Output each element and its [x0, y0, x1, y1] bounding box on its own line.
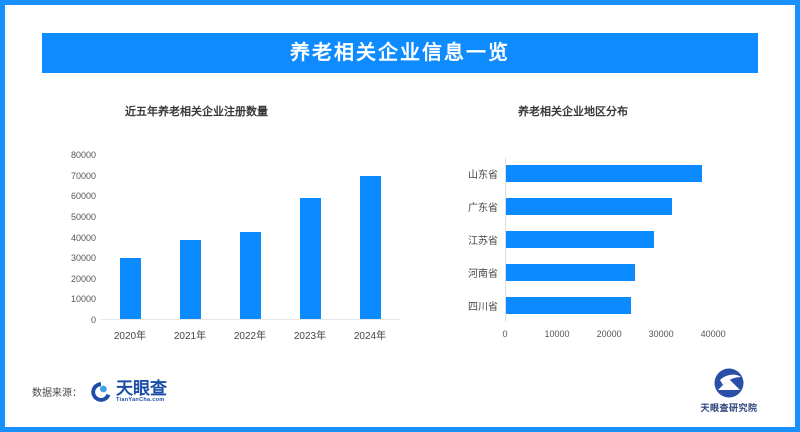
bar-row: 河南省 [506, 256, 735, 289]
bar [180, 240, 201, 319]
x-tick-label: 0 [502, 329, 507, 339]
bar [240, 232, 261, 319]
bar [506, 264, 635, 281]
bar [300, 198, 321, 319]
y-tick-label: 70000 [71, 171, 96, 181]
x-tick-label: 2024年 [340, 327, 400, 342]
header-banner: 养老相关企业信息一览 [42, 33, 758, 73]
x-tick-label: 2021年 [160, 327, 220, 342]
chart-registrations-baseline [100, 319, 400, 320]
bar-row: 四川省 [506, 289, 735, 322]
x-tick-label: 10000 [545, 329, 570, 339]
bar-slot [160, 155, 220, 319]
chart-regions-bars: 山东省广东省江苏省河南省四川省 [506, 157, 735, 322]
chart-registrations-x-axis: 2020年2021年2022年2023年2024年 [100, 327, 400, 342]
bar-slot [340, 155, 400, 319]
y-tick-label: 江苏省 [468, 232, 498, 247]
y-tick-label: 30000 [71, 253, 96, 263]
chart-registrations-bars [100, 155, 400, 319]
bar-slot [220, 155, 280, 319]
institute-emblem-icon [710, 368, 748, 398]
frame-border-left [0, 0, 5, 432]
data-source-label: 数据来源： [32, 384, 82, 399]
x-tick-label: 2022年 [220, 327, 280, 342]
chart-regions: 养老相关企业地区分布 山东省广东省江苏省河南省四川省 0100002000030… [430, 95, 770, 350]
bar-slot [100, 155, 160, 319]
chart-regions-title: 养老相关企业地区分布 [518, 103, 628, 119]
y-tick-label: 60000 [71, 191, 96, 201]
bar [506, 165, 702, 182]
data-source: 数据来源： 天眼查 TianYanCha.com [32, 380, 167, 404]
page-title: 养老相关企业信息一览 [290, 43, 510, 63]
x-tick-label: 2023年 [280, 327, 340, 342]
tianyancha-eye-icon [90, 381, 112, 403]
x-tick-label: 40000 [701, 329, 726, 339]
bar [506, 297, 631, 314]
y-tick-label: 河南省 [468, 265, 498, 280]
institute-name: 天眼查研究院 [700, 401, 757, 414]
y-tick-label: 40000 [71, 233, 96, 243]
bar-row: 江苏省 [506, 223, 735, 256]
bar-row: 广东省 [506, 190, 735, 223]
x-tick-label: 20000 [597, 329, 622, 339]
y-tick-label: 20000 [71, 274, 96, 284]
chart-registrations-y-axis: 8000070000600005000040000300002000010000… [44, 155, 96, 320]
chart-registrations-plot-area: 8000070000600005000040000300002000010000… [100, 155, 400, 320]
frame-border-right [795, 0, 800, 432]
y-tick-label: 10000 [71, 294, 96, 304]
bar [120, 258, 141, 319]
y-tick-label: 80000 [71, 150, 96, 160]
frame-border-top [0, 0, 800, 5]
infographic-page: 养老相关企业信息一览 近五年养老相关企业注册数量 800007000060000… [0, 0, 800, 432]
chart-registrations: 近五年养老相关企业注册数量 80000700006000050000400003… [40, 95, 420, 350]
tianyancha-name-cn: 天眼查 [116, 380, 167, 397]
y-tick-label: 四川省 [468, 298, 498, 313]
chart-regions-x-axis: 010000200003000040000 [505, 329, 735, 343]
bar-slot [280, 155, 340, 319]
y-tick-label: 广东省 [468, 199, 498, 214]
institute-logo: 天眼查研究院 [690, 368, 768, 414]
bar [506, 231, 654, 248]
bar [360, 176, 381, 319]
y-tick-label: 0 [91, 315, 96, 325]
x-tick-label: 30000 [649, 329, 674, 339]
chart-registrations-title: 近五年养老相关企业注册数量 [125, 103, 268, 119]
bar [506, 198, 672, 215]
tianyancha-logo: 天眼查 TianYanCha.com [90, 380, 167, 404]
x-tick-label: 2020年 [100, 327, 160, 342]
y-tick-label: 山东省 [468, 166, 498, 181]
chart-regions-plot-area: 山东省广东省江苏省河南省四川省 [505, 157, 735, 322]
y-tick-label: 50000 [71, 212, 96, 222]
bar-row: 山东省 [506, 157, 735, 190]
frame-border-bottom [0, 427, 800, 432]
tianyancha-wordmark: 天眼查 TianYanCha.com [116, 380, 167, 404]
tianyancha-name-en: TianYanCha.com [116, 398, 167, 404]
